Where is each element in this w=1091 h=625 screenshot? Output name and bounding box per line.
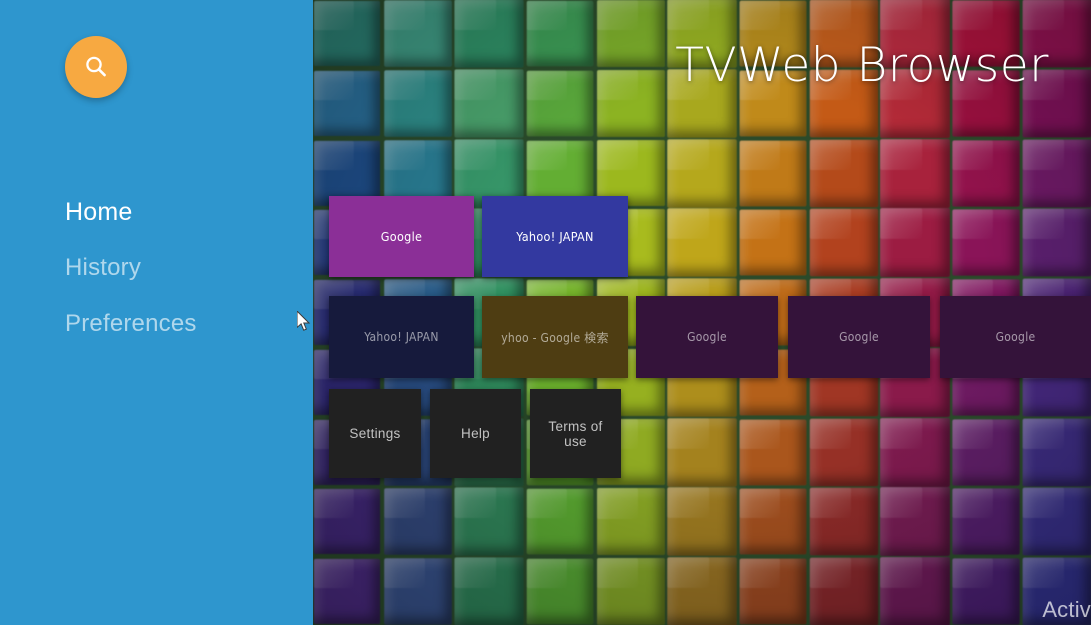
tile-bookmarks-row-1[interactable]: Yahoo! JAPAN bbox=[482, 196, 628, 277]
tile-label: Terms of use bbox=[530, 419, 621, 449]
wallpaper-cube bbox=[667, 139, 736, 207]
tile-bookmarks-row-0[interactable]: Google bbox=[329, 196, 474, 277]
wallpaper-cube bbox=[597, 0, 665, 67]
tile-utility-row-0[interactable]: Settings bbox=[329, 389, 421, 478]
wallpaper-cube bbox=[667, 488, 736, 556]
sidebar-nav: Home History Preferences bbox=[0, 190, 313, 358]
wallpaper-cube bbox=[740, 210, 807, 276]
tile-label: Google bbox=[375, 229, 428, 244]
search-button[interactable] bbox=[65, 36, 127, 98]
wallpaper-cube bbox=[597, 558, 665, 625]
wallpaper-cube bbox=[810, 139, 878, 206]
wallpaper-cube bbox=[454, 488, 523, 556]
wallpaper-cube bbox=[314, 71, 380, 136]
wallpaper-cube bbox=[880, 418, 950, 487]
tile-history-row-1[interactable]: yhoo - Google 検索 bbox=[482, 296, 628, 378]
wallpaper-cube bbox=[667, 418, 736, 486]
search-icon bbox=[81, 52, 111, 82]
wallpaper-cube bbox=[1023, 488, 1091, 556]
wallpaper-cube bbox=[597, 70, 665, 137]
wallpaper-cube bbox=[952, 419, 1019, 485]
wallpaper-cube bbox=[880, 139, 950, 208]
tile-history-row-2[interactable]: Google bbox=[636, 296, 778, 378]
sidebar: Home History Preferences bbox=[0, 0, 313, 625]
wallpaper-cube bbox=[597, 488, 665, 555]
wallpaper-cube bbox=[384, 0, 452, 66]
tile-utility-row-1[interactable]: Help bbox=[430, 389, 521, 478]
wallpaper-cube bbox=[527, 489, 594, 554]
wallpaper-cube bbox=[1023, 209, 1091, 277]
tile-label: Yahoo! JAPAN bbox=[358, 330, 445, 344]
wallpaper-cube bbox=[384, 489, 452, 555]
tile-label: Google bbox=[681, 330, 733, 344]
sidebar-item-label: History bbox=[65, 254, 141, 281]
page-title: TVWeb Browser bbox=[675, 38, 1049, 93]
wallpaper-cube bbox=[384, 70, 452, 136]
tile-history-row-4[interactable]: Google bbox=[940, 296, 1091, 378]
tvweb-browser-home-screen: Home History Preferences TVWeb Browser G… bbox=[0, 0, 1091, 625]
sidebar-item-history[interactable]: History bbox=[0, 246, 313, 302]
sidebar-item-home[interactable]: Home bbox=[0, 190, 313, 246]
tile-label: Google bbox=[833, 330, 885, 344]
tile-history-row-3[interactable]: Google bbox=[788, 296, 930, 378]
sidebar-item-label: Preferences bbox=[65, 310, 197, 337]
wallpaper-cube bbox=[527, 559, 594, 624]
wallpaper-cube bbox=[740, 140, 807, 206]
sidebar-item-preferences[interactable]: Preferences bbox=[0, 302, 313, 358]
wallpaper-cube bbox=[880, 208, 950, 277]
tile-history-row-0[interactable]: Yahoo! JAPAN bbox=[329, 296, 474, 378]
wallpaper-cube bbox=[952, 140, 1019, 206]
tile-label: Yahoo! JAPAN bbox=[510, 229, 599, 244]
wallpaper-cube bbox=[740, 419, 807, 485]
tile-utility-row-2[interactable]: Terms of use bbox=[530, 389, 621, 478]
wallpaper-cube bbox=[454, 0, 523, 67]
wallpaper-cube bbox=[527, 1, 594, 66]
wallpaper-cube bbox=[880, 557, 950, 625]
tile-label: yhoo - Google 検索 bbox=[495, 329, 615, 346]
wallpaper-cube bbox=[384, 558, 452, 624]
wallpaper-cube bbox=[810, 209, 878, 276]
wallpaper-cube bbox=[952, 559, 1019, 625]
wallpaper-cube bbox=[527, 71, 594, 136]
wallpaper-cube bbox=[314, 559, 380, 624]
activation-watermark: Activ bbox=[1042, 597, 1091, 623]
wallpaper-cube bbox=[810, 418, 878, 485]
wallpaper-cube bbox=[667, 557, 736, 625]
wallpaper-cube bbox=[880, 488, 950, 557]
tile-label: Help bbox=[455, 426, 496, 441]
wallpaper-cube bbox=[667, 209, 736, 277]
tile-label: Settings bbox=[343, 426, 406, 441]
wallpaper-cube bbox=[952, 210, 1019, 276]
wallpaper-cube bbox=[314, 1, 380, 66]
wallpaper-cube bbox=[740, 559, 807, 625]
wallpaper-cube bbox=[810, 488, 878, 555]
wallpaper-cube bbox=[810, 558, 878, 625]
sidebar-item-label: Home bbox=[65, 198, 133, 226]
wallpaper-cube bbox=[952, 489, 1019, 555]
tile-label: Google bbox=[990, 330, 1042, 344]
wallpaper-cube bbox=[1023, 139, 1091, 207]
wallpaper-cube bbox=[1023, 418, 1091, 486]
wallpaper-cube bbox=[314, 489, 380, 554]
wallpaper-cube bbox=[740, 489, 807, 555]
wallpaper-cube bbox=[454, 69, 523, 137]
wallpaper-cube bbox=[454, 558, 523, 625]
